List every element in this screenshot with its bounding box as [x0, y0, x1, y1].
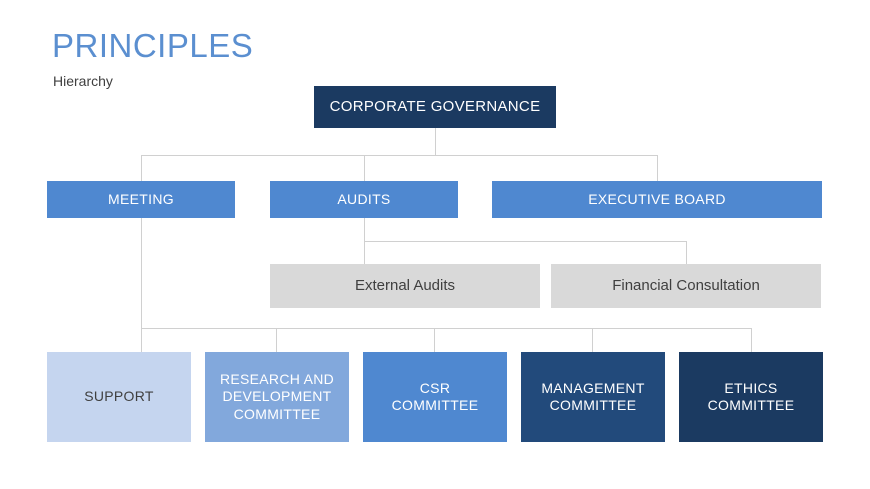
node-external-audits[interactable]: External Audits [270, 264, 540, 308]
connector-drop-management-committee [592, 328, 593, 352]
node-label: EXECUTIVE BOARD [498, 191, 816, 208]
connector-audits-stem [364, 218, 365, 241]
connector-drop-meeting [141, 155, 142, 181]
node-label: External Audits [276, 277, 534, 295]
node-audits[interactable]: AUDITS [270, 181, 458, 218]
node-label: SUPPORT [53, 388, 185, 405]
connector-level4-bar [141, 328, 751, 329]
node-label: Financial Consultation [557, 277, 815, 295]
node-csr-committee[interactable]: CSR COMMITTEE [363, 352, 507, 442]
node-management-committee[interactable]: MANAGEMENT COMMITTEE [521, 352, 665, 442]
slide-canvas: PRINCIPLES Hierarchy CORPORATE GOVERNANC… [0, 0, 870, 489]
node-label: MEETING [53, 191, 229, 208]
node-research-and-development-committee[interactable]: RESEARCH AND DEVELOPMENT COMMITTEE [205, 352, 349, 442]
connector-drop-support [141, 328, 142, 352]
node-corporate-governance[interactable]: CORPORATE GOVERNANCE [314, 86, 556, 128]
node-executive-board[interactable]: EXECUTIVE BOARD [492, 181, 822, 218]
connector-root-stem [435, 128, 436, 155]
node-label: AUDITS [276, 191, 452, 208]
connector-drop-csr-committee [434, 328, 435, 352]
connector-meeting-stem [141, 218, 142, 328]
connector-drop-financial-consultation [686, 241, 687, 264]
connector-drop-research-and-development-committee [276, 328, 277, 352]
page-title: PRINCIPLES [52, 26, 253, 66]
node-label: RESEARCH AND DEVELOPMENT COMMITTEE [211, 371, 343, 422]
node-label: ETHICS COMMITTEE [685, 380, 817, 414]
node-ethics-committee[interactable]: ETHICS COMMITTEE [679, 352, 823, 442]
connector-level3-bar [364, 241, 686, 242]
node-financial-consultation[interactable]: Financial Consultation [551, 264, 821, 308]
node-label: CORPORATE GOVERNANCE [320, 98, 550, 116]
node-meeting[interactable]: MEETING [47, 181, 235, 218]
connector-drop-external-audits [364, 241, 365, 264]
node-label: CSR COMMITTEE [369, 380, 501, 414]
connector-drop-executive-board [657, 155, 658, 181]
connector-drop-audits [364, 155, 365, 181]
node-support[interactable]: SUPPORT [47, 352, 191, 442]
connector-level2-bar [141, 155, 657, 156]
connector-drop-ethics-committee [751, 328, 752, 352]
node-label: MANAGEMENT COMMITTEE [527, 380, 659, 414]
page-subtitle: Hierarchy [53, 71, 113, 91]
